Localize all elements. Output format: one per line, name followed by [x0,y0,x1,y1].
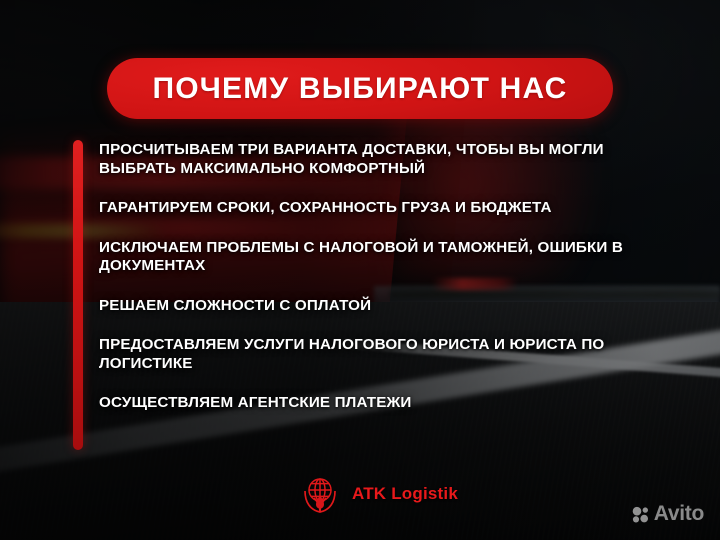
list-item: ПРЕДОСТАВЛЯЕМ УСЛУГИ НАЛОГОВОГО ЮРИСТА И… [99,336,644,373]
page-title: ПОЧЕМУ ВЫБИРАЮТ НАС [152,72,567,106]
avito-wordmark: Avito [654,502,704,526]
benefits-list: ПРОСЧИТЫВАЕМ ТРИ ВАРИАНТА ДОСТАВКИ, ЧТОБ… [99,141,644,413]
avito-dots-icon [632,506,649,523]
promo-poster: ПОЧЕМУ ВЫБИРАЮТ НАС ПРОСЧИТЫВАЕМ ТРИ ВАР… [0,0,720,540]
list-item: ПРОСЧИТЫВАЕМ ТРИ ВАРИАНТА ДОСТАВКИ, ЧТОБ… [99,141,644,178]
list-item: ИСКЛЮЧАЕМ ПРОБЛЕМЫ С НАЛОГОВОЙ И ТАМОЖНЕ… [99,239,644,276]
list-item: ОСУЩЕСТВЛЯЕМ АГЕНТСКИЕ ПЛАТЕЖИ [99,394,644,413]
company-logo: ATK Logistik [297,471,458,517]
headline-banner: ПОЧЕМУ ВЫБИРАЮТ НАС [107,58,613,119]
avito-watermark: Avito [632,502,704,526]
poster-content: ПОЧЕМУ ВЫБИРАЮТ НАС ПРОСЧИТЫВАЕМ ТРИ ВАР… [0,0,720,540]
globe-in-hands-icon [297,471,343,517]
list-item: РЕШАЕМ СЛОЖНОСТИ С ОПЛАТОЙ [99,297,644,316]
red-accent-bar [73,140,83,450]
list-item: ГАРАНТИРУЕМ СРОКИ, СОХРАННОСТЬ ГРУЗА И Б… [99,199,644,218]
logo-text: ATK Logistik [352,484,458,504]
